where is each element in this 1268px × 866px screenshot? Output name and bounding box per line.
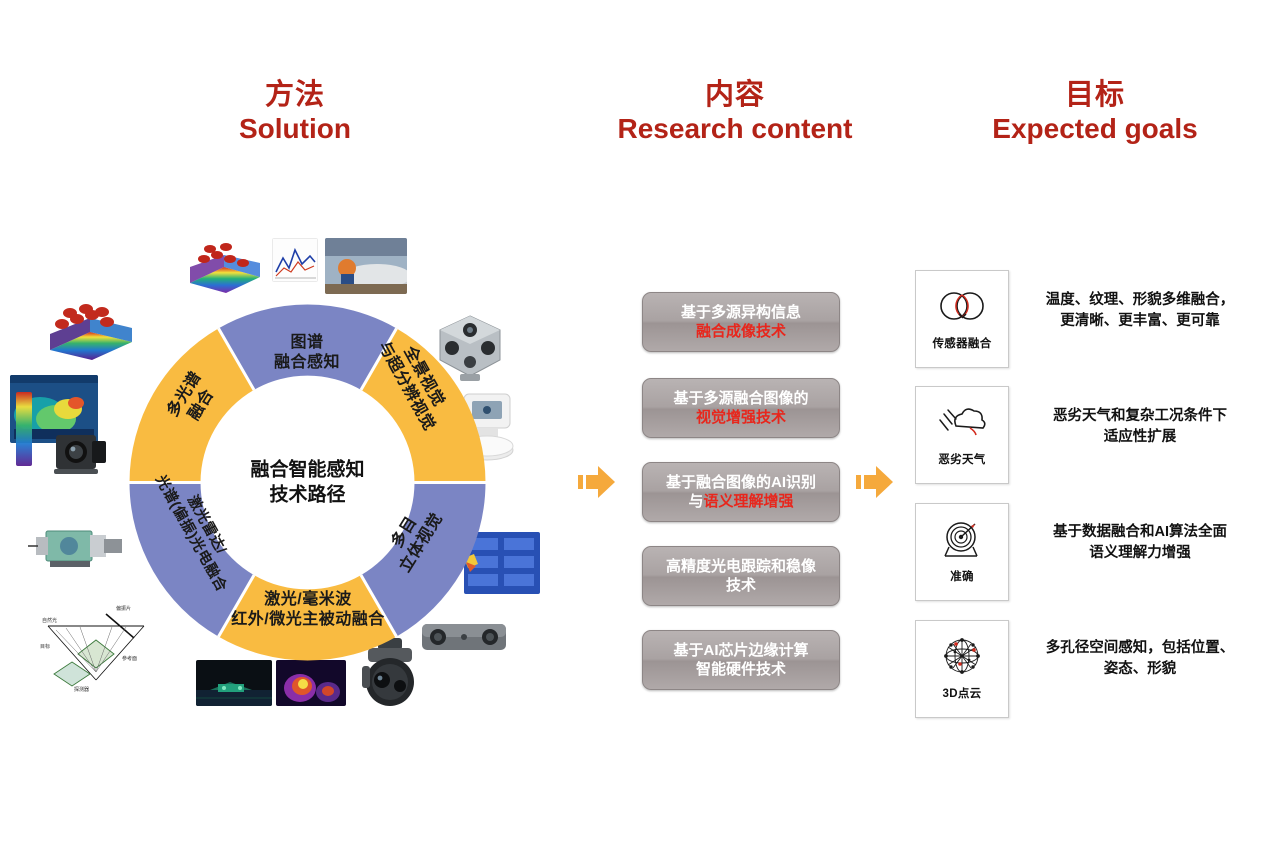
thumbnail-industrial-camera-black: [48, 425, 110, 477]
column-header-solution-en: Solution: [180, 112, 410, 145]
goal-text-sensor-fusion-line2: 更清晰、更丰富、更可靠: [1022, 311, 1258, 332]
arrow-solution-to-content: [578, 462, 616, 502]
column-header-solution-cn: 方法: [180, 78, 410, 112]
donut-center-line2: 技术路径: [200, 483, 415, 509]
research-box-ai-semantic-understanding-line2: 语义理解增强: [703, 493, 793, 510]
goal-card-point-cloud-3d-caption: 3D点云: [943, 685, 982, 701]
research-box-ai-chip-edge-computing-line1: 基于AI芯片边缘计算: [673, 641, 808, 660]
goal-card-sensor-fusion[interactable]: 传感器融合: [915, 270, 1009, 368]
research-box-optical-tracking-line1: 高精度光电跟踪和稳像: [666, 557, 816, 576]
column-header-expected-goals: 目标 Expected goals: [945, 78, 1245, 145]
research-box-ai-chip-edge-computing[interactable]: 基于AI芯片边缘计算 智能硬件技术: [642, 630, 840, 690]
research-box-ai-semantic-understanding-line1: 基于融合图像的AI识别: [666, 473, 816, 492]
research-box-visual-enhancement[interactable]: 基于多源融合图像的 视觉增强技术: [642, 378, 840, 438]
column-header-research-content: 内容 Research content: [590, 78, 880, 145]
technology-roadmap-donut: 图谱融合感知 全景视觉与超分辨视觉 多目立体视觉 激光/毫米波红外/微光主被动融…: [125, 300, 490, 665]
research-box-ai-semantic-understanding-line2-prefix: 与: [688, 493, 703, 510]
research-box-optical-tracking-line2: 技术: [666, 576, 816, 595]
research-box-visual-enhancement-line2: 视觉增强技术: [696, 409, 786, 426]
goal-card-bad-weather[interactable]: 恶劣天气: [915, 386, 1009, 484]
overlapping-circles-icon: [936, 271, 988, 335]
goal-text-accuracy-line2: 语义理解力增强: [1022, 543, 1258, 564]
goal-card-accuracy[interactable]: 准确: [915, 503, 1009, 601]
goal-card-bad-weather-caption: 恶劣天气: [938, 451, 985, 467]
thumbnail-pipeline-inspection-photo: [325, 238, 407, 294]
column-header-expected-goals-cn: 目标: [945, 78, 1245, 112]
thumbnail-polarization-optics-module: [28, 515, 128, 577]
svg-text:目标: 目标: [40, 643, 50, 650]
research-box-fusion-imaging[interactable]: 基于多源异构信息 融合成像技术: [642, 292, 840, 352]
donut-center-line1: 融合智能感知: [200, 457, 415, 483]
rain-cloud-icon: [936, 387, 988, 451]
research-box-fusion-imaging-line2: 融合成像技术: [696, 323, 786, 340]
thumbnail-night-vision-scene: [196, 660, 272, 706]
goal-text-sensor-fusion: 温度、纹理、形貌多维融合， 更清晰、更丰富、更可靠: [1022, 290, 1258, 332]
goal-text-accuracy: 基于数据融合和AI算法全面 语义理解力增强: [1022, 522, 1258, 564]
thumbnail-spectral-color-bar: [16, 392, 32, 466]
svg-text:自然光: 自然光: [42, 617, 57, 624]
donut-center-label: 融合智能感知 技术路径: [200, 457, 415, 508]
svg-text:探测器: 探测器: [74, 686, 89, 692]
goal-text-bad-weather-line1: 恶劣天气和复杂工况条件下: [1022, 406, 1258, 427]
target-dartboard-icon: [936, 504, 988, 568]
thumbnail-spectral-curve-plot: [272, 238, 318, 282]
goal-text-point-cloud-3d-line2: 姿态、形貌: [1022, 659, 1258, 680]
goal-text-bad-weather-line2: 适应性扩展: [1022, 427, 1258, 448]
research-box-fusion-imaging-line1: 基于多源异构信息: [681, 303, 801, 322]
goal-text-point-cloud-3d: 多孔径空间感知，包括位置、 姿态、形貌: [1022, 638, 1258, 680]
goal-text-accuracy-line1: 基于数据融合和AI算法全面: [1022, 522, 1258, 543]
goal-card-point-cloud-3d[interactable]: 3D点云: [915, 620, 1009, 718]
column-header-solution: 方法 Solution: [180, 78, 410, 145]
thumbnail-thermal-color-scene: [276, 660, 346, 706]
goal-text-bad-weather: 恶劣天气和复杂工况条件下 适应性扩展: [1022, 406, 1258, 448]
research-box-ai-chip-edge-computing-line2: 智能硬件技术: [673, 660, 808, 679]
goal-text-point-cloud-3d-line1: 多孔径空间感知，包括位置、: [1022, 638, 1258, 659]
goal-text-sensor-fusion-line1: 温度、纹理、形貌多维融合，: [1022, 290, 1258, 311]
arrow-content-to-goals: [856, 462, 894, 502]
goal-card-accuracy-caption: 准确: [950, 568, 974, 584]
research-box-optical-tracking[interactable]: 高精度光电跟踪和稳像 技术: [642, 546, 840, 606]
thumbnail-3d-spectral-surface: [186, 237, 264, 295]
research-box-ai-semantic-understanding[interactable]: 基于融合图像的AI识别 与语义理解增强: [642, 462, 840, 522]
research-box-visual-enhancement-line1: 基于多源融合图像的: [673, 389, 808, 408]
point-cloud-sphere-icon: [936, 621, 988, 685]
donut-label-spectral-fusion-perception: 图谱融合感知: [232, 333, 382, 372]
column-header-expected-goals-en: Expected goals: [945, 112, 1245, 145]
thumbnail-hyperspectral-cube-tomatoes: [44, 300, 136, 362]
column-header-research-content-en: Research content: [590, 112, 880, 145]
column-header-research-content-cn: 内容: [590, 78, 880, 112]
goal-card-sensor-fusion-caption: 传感器融合: [933, 335, 992, 351]
